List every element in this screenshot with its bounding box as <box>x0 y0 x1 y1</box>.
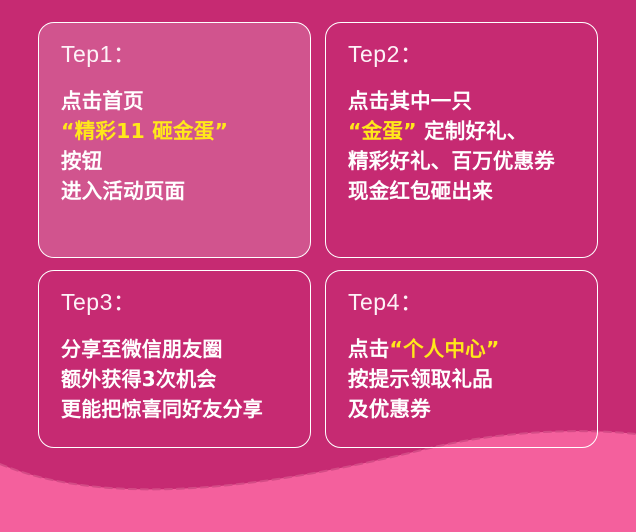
step-card-2-line-1: 点击其中一只 <box>348 86 597 116</box>
step-card-2-heading: Tep2： <box>348 43 597 66</box>
step-card-3-body: 分享至微信朋友圈 额外获得3次机会 更能把惊喜同好友分享 <box>61 334 310 424</box>
promo-steps-banner: Tep1： 点击首页 “精彩11 砸金蛋” 按钮 进入活动页面 Tep2： 点击… <box>0 0 636 532</box>
step-card-2[interactable]: Tep2： 点击其中一只 “金蛋” 定制好礼、 精彩好礼、百万优惠券 现金红包砸… <box>325 22 598 258</box>
step-card-3-line-3: 更能把惊喜同好友分享 <box>61 394 310 424</box>
step-card-1-line-1: 点击首页 <box>61 86 310 116</box>
step-card-1[interactable]: Tep1： 点击首页 “精彩11 砸金蛋” 按钮 进入活动页面 <box>38 22 311 258</box>
step-card-4-heading: Tep4： <box>348 291 597 314</box>
step-card-4-body: 点击“个人中心” 按提示领取礼品 及优惠券 <box>348 334 597 424</box>
step-card-3-line-2: 额外获得3次机会 <box>61 364 310 394</box>
step-card-2-line-4: 现金红包砸出来 <box>348 176 597 206</box>
step-card-3-line-1: 分享至微信朋友圈 <box>61 334 310 364</box>
step-card-3[interactable]: Tep3： 分享至微信朋友圈 额外获得3次机会 更能把惊喜同好友分享 <box>38 270 311 448</box>
step-card-1-line-4: 进入活动页面 <box>61 176 310 206</box>
step-card-1-body: 点击首页 “精彩11 砸金蛋” 按钮 进入活动页面 <box>61 86 310 206</box>
step-card-4-line-1: 点击“个人中心” <box>348 334 597 364</box>
step-card-2-body: 点击其中一只 “金蛋” 定制好礼、 精彩好礼、百万优惠券 现金红包砸出来 <box>348 86 597 206</box>
step-card-2-line-2: “金蛋” 定制好礼、 <box>348 116 597 146</box>
highlight-text: “个人中心” <box>389 337 499 361</box>
highlight-text: “金蛋” <box>348 119 417 143</box>
step-card-1-heading: Tep1： <box>61 43 310 66</box>
step-card-4-line-2: 按提示领取礼品 <box>348 364 597 394</box>
step-card-1-line-3: 按钮 <box>61 146 310 176</box>
step-card-2-line-3: 精彩好礼、百万优惠券 <box>348 146 597 176</box>
step-card-3-heading: Tep3： <box>61 291 310 314</box>
step-card-4-line-3: 及优惠券 <box>348 394 597 424</box>
step-card-1-line-2: “精彩11 砸金蛋” <box>61 116 310 146</box>
step-card-4[interactable]: Tep4： 点击“个人中心” 按提示领取礼品 及优惠券 <box>325 270 598 448</box>
highlight-text: “精彩11 砸金蛋” <box>61 119 228 143</box>
